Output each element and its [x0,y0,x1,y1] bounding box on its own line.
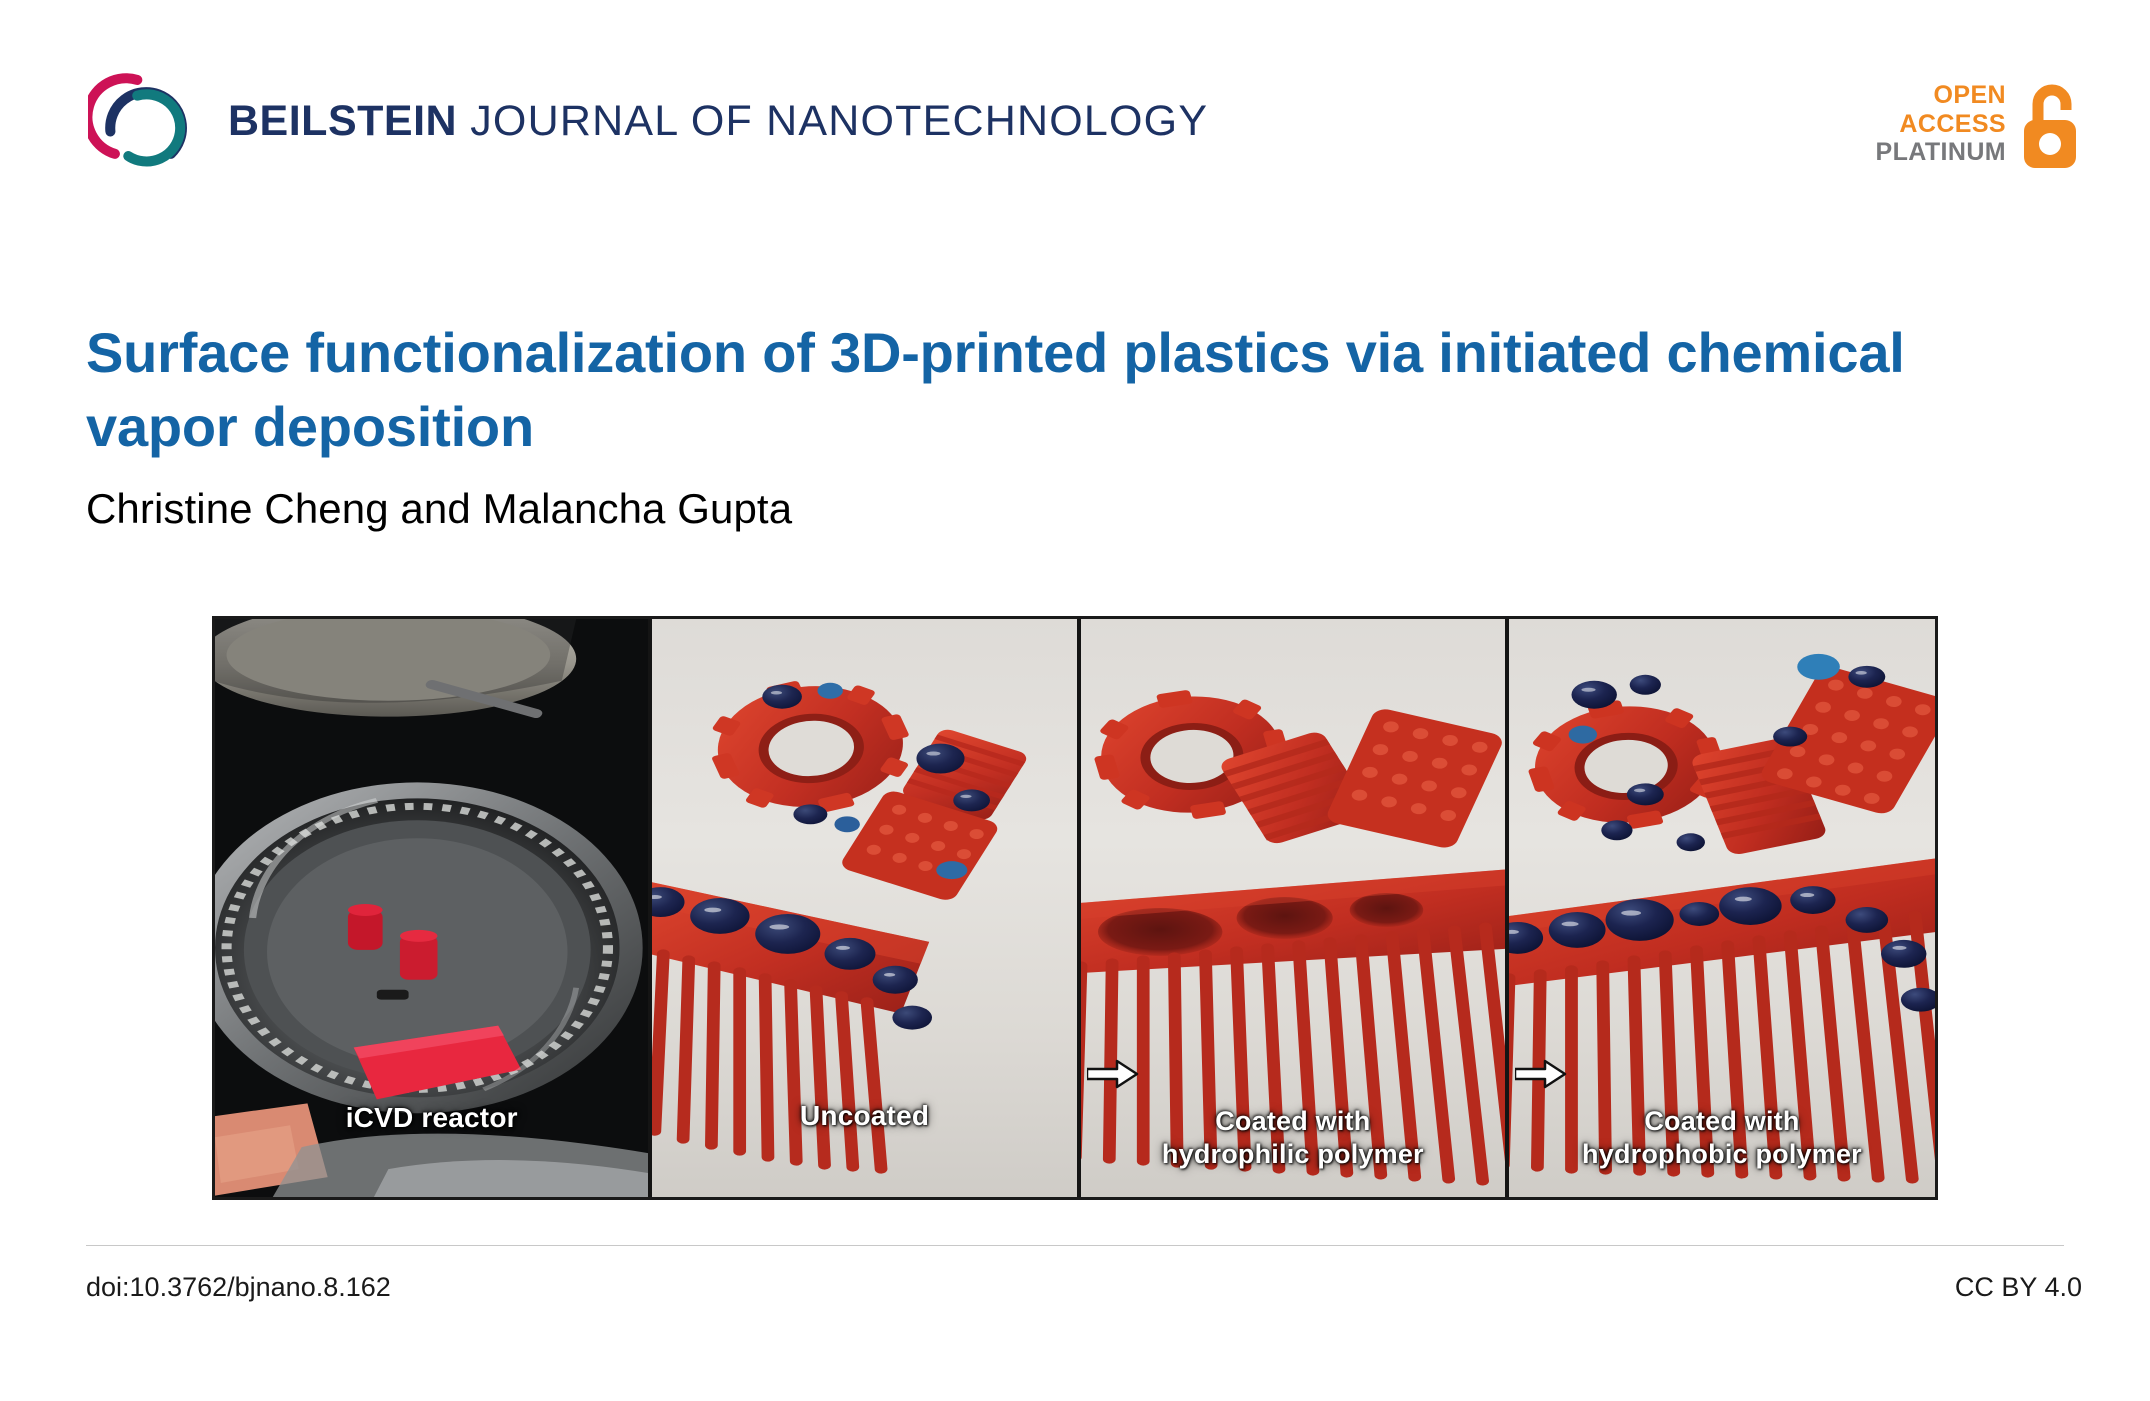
panel-caption-hydrophilic: Coated with hydrophilic polymer [1081,1105,1505,1171]
figure-panel-icvd-reactor: iCVD reactor [215,619,648,1197]
open-access-badge: OPEN ACCESS PLATINUM [1876,78,2083,170]
caption-line-2: hydrophilic polymer [1095,1138,1491,1171]
panel-caption-hydrophobic: Coated with hydrophobic polymer [1509,1105,1935,1171]
footer-divider [86,1245,2064,1246]
figure-panel-hydrophilic: Coated with hydrophilic polymer [1077,619,1505,1197]
article-authors: Christine Cheng and Malancha Gupta [86,485,792,533]
open-access-label: OPEN ACCESS PLATINUM [1876,81,2007,167]
journal-name-bold: BEILSTEIN [228,97,457,145]
graphical-abstract-figure: iCVD reactor [212,616,1938,1200]
beilstein-swirl-logo-icon [88,62,200,174]
page-title: Surface functionalization of 3D-printed … [86,316,2046,465]
open-access-line-open: OPEN [1876,81,2007,110]
license-text: CC BY 4.0 [1955,1272,2082,1303]
panel-caption-icvd-reactor: iCVD reactor [215,1101,648,1135]
open-access-line-access: ACCESS [1876,110,2007,139]
journal-brand: BEILSTEIN JOURNAL OF NANOTECHNOLOGY [88,62,1208,174]
caption-line-1: Coated with [1523,1105,1921,1138]
journal-title-text: BEILSTEIN JOURNAL OF NANOTECHNOLOGY [228,94,1208,143]
journal-name-light: JOURNAL OF NANOTECHNOLOGY [457,97,1208,145]
caption-line-1: Coated with [1095,1105,1491,1138]
page-header: BEILSTEIN JOURNAL OF NANOTECHNOLOGY OPEN… [0,0,2150,190]
right-arrow-icon [1087,1059,1139,1089]
open-access-line-platinum: PLATINUM [1876,138,2007,167]
open-padlock-icon [2018,78,2082,170]
caption-line-2: hydrophobic polymer [1523,1138,1921,1171]
doi-text: doi:10.3762/bjnano.8.162 [86,1272,391,1303]
figure-panel-uncoated: Uncoated [648,619,1076,1197]
figure-panel-hydrophobic: Coated with hydrophobic polymer [1505,619,1935,1197]
panel-caption-uncoated: Uncoated [652,1099,1076,1133]
right-arrow-icon [1515,1059,1567,1089]
